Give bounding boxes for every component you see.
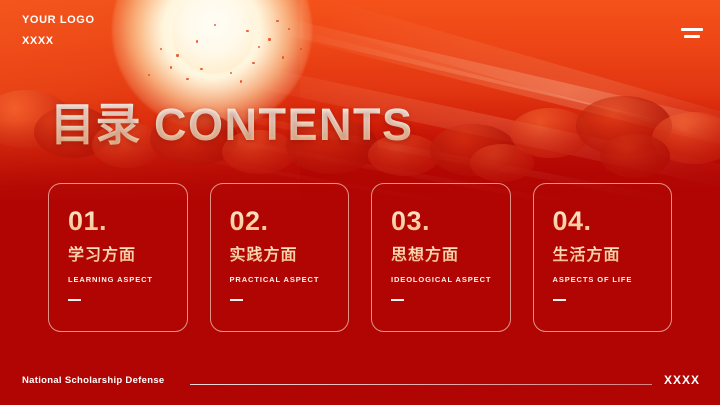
card-divider-dash [230, 299, 243, 301]
card-divider-dash [68, 299, 81, 301]
contents-card-04[interactable]: 04. 生活方面 ASPECTS OF LIFE [533, 183, 673, 332]
card-divider-dash [553, 299, 566, 301]
presentation-slide: YOUR LOGO XXXX 目录 CONTENTS 01. 学习方面 LEAR… [0, 0, 720, 405]
card-number: 01. [68, 206, 187, 236]
footer-right-text: XXXX [664, 373, 700, 387]
page-title: 目录 CONTENTS [50, 99, 414, 151]
contents-card-03[interactable]: 03. 思想方面 IDEOLOGICAL ASPECT [371, 183, 511, 332]
card-title-chinese: 学习方面 [68, 244, 187, 266]
card-number: 03. [391, 206, 510, 236]
card-number: 04. [553, 206, 672, 236]
page-title-english: CONTENTS [154, 99, 414, 150]
card-title-chinese: 思想方面 [391, 244, 510, 266]
card-divider-dash [391, 299, 404, 301]
card-title-english: PRACTICAL ASPECT [230, 274, 349, 285]
contents-card-01[interactable]: 01. 学习方面 LEARNING ASPECT [48, 183, 188, 332]
card-number: 02. [230, 206, 349, 236]
menu-icon[interactable] [681, 28, 703, 38]
page-title-chinese: 目录 [50, 98, 141, 151]
footer-divider-line [190, 384, 652, 385]
logo-line-1: YOUR LOGO [22, 12, 95, 28]
footer-left-text: National Scholarship Defense [22, 375, 165, 386]
logo-line-2: XXXX [22, 33, 95, 49]
card-title-english: IDEOLOGICAL ASPECT [391, 274, 510, 285]
card-title-chinese: 生活方面 [553, 244, 672, 266]
card-title-english: ASPECTS OF LIFE [553, 274, 672, 285]
logo: YOUR LOGO XXXX [22, 12, 95, 49]
slide-footer: National Scholarship Defense XXXX [0, 363, 720, 405]
card-title-english: LEARNING ASPECT [68, 274, 187, 285]
contents-card-02[interactable]: 02. 实践方面 PRACTICAL ASPECT [210, 183, 350, 332]
card-title-chinese: 实践方面 [230, 244, 349, 266]
menu-icon-bar-bottom [684, 35, 700, 38]
menu-icon-bar-top [681, 28, 703, 31]
contents-card-list: 01. 学习方面 LEARNING ASPECT 02. 实践方面 PRACTI… [48, 183, 672, 332]
